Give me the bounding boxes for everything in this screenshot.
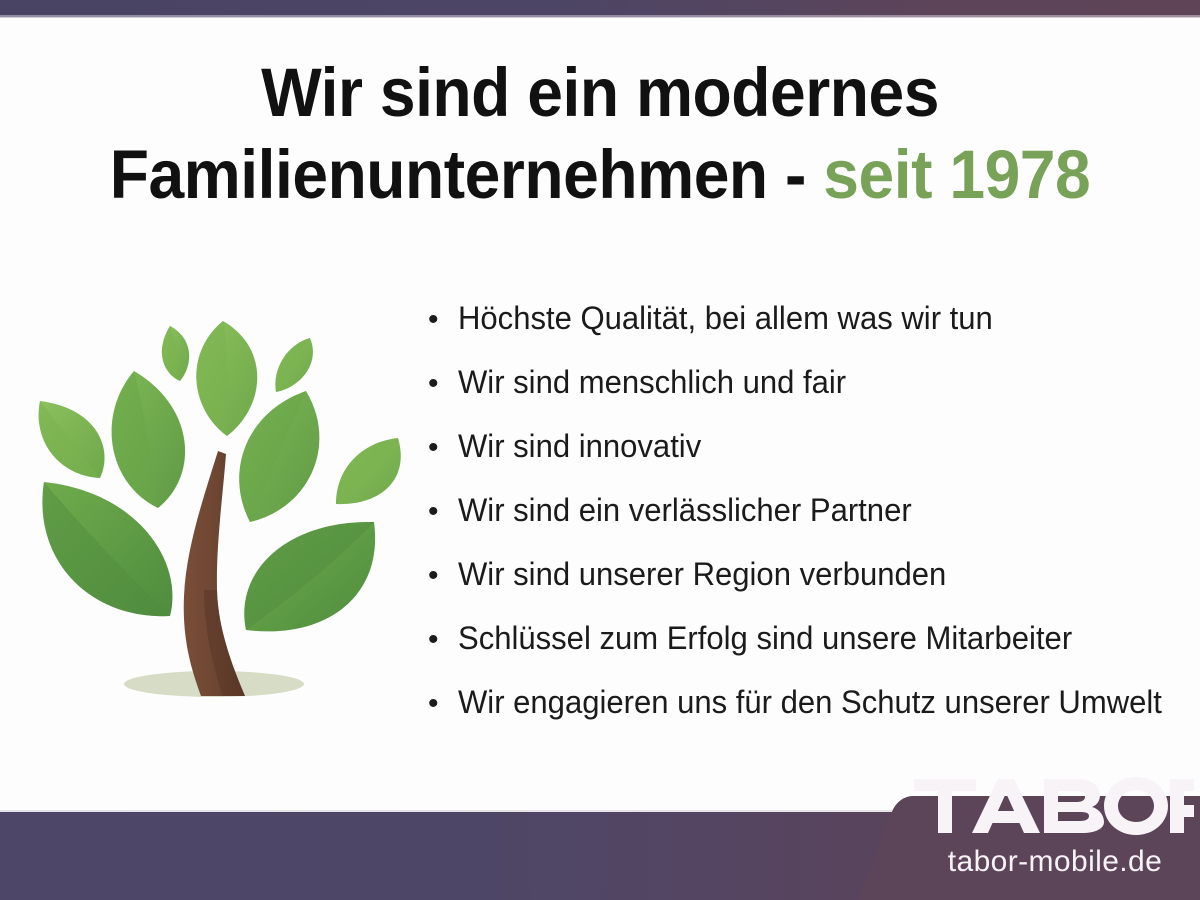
page-title: Wir sind ein modernes Familienunternehme… bbox=[98, 52, 1102, 216]
tabor-wordmark bbox=[914, 777, 1194, 835]
leaf-left-small bbox=[39, 401, 105, 478]
bullet-marker-icon: • bbox=[428, 288, 458, 352]
tree-illustration bbox=[18, 296, 422, 720]
bullet-marker-icon: • bbox=[428, 608, 458, 672]
list-item: • Höchste Qualität, bei allem was wir tu… bbox=[428, 286, 1188, 350]
page-title-line-2: Familienunternehmen - seit 1978 bbox=[98, 134, 1102, 216]
top-accent-bar-highlight bbox=[0, 15, 1200, 18]
list-item: • Wir sind unserer Region verbunden bbox=[428, 542, 1188, 606]
leaf-upper-left bbox=[112, 371, 185, 508]
list-item-label: Höchste Qualität, bei allem was wir tun bbox=[458, 286, 993, 350]
list-item-label: Wir sind ein verlässlicher Partner bbox=[458, 478, 912, 542]
bullet-marker-icon: • bbox=[428, 352, 458, 416]
list-item: • Wir engagieren uns für den Schutz unse… bbox=[428, 670, 1188, 734]
leaf-top-left-small bbox=[162, 326, 189, 381]
list-item-label: Wir sind innovativ bbox=[458, 414, 701, 478]
bullet-marker-icon: • bbox=[428, 544, 458, 608]
bullet-marker-icon: • bbox=[428, 672, 458, 736]
list-item: • Schlüssel zum Erfolg sind unsere Mitar… bbox=[428, 606, 1188, 670]
leaf-right-small bbox=[336, 438, 401, 504]
list-item-label: Schlüssel zum Erfolg sind unsere Mitarbe… bbox=[458, 606, 1072, 670]
list-item-label: Wir engagieren uns für den Schutz unsere… bbox=[458, 670, 1162, 734]
page-title-line-1: Wir sind ein modernes bbox=[98, 52, 1102, 134]
slide-canvas: Wir sind ein modernes Familienunternehme… bbox=[0, 0, 1200, 900]
value-bullet-list: • Höchste Qualität, bei allem was wir tu… bbox=[428, 286, 1188, 734]
list-item: • Wir sind menschlich und fair bbox=[428, 350, 1188, 414]
brand-logo-block[interactable]: tabor-mobile.de bbox=[852, 755, 1200, 900]
list-item: • Wir sind innovativ bbox=[428, 414, 1188, 478]
brand-domain-label: tabor-mobile.de bbox=[914, 845, 1196, 879]
bullet-marker-icon: • bbox=[428, 480, 458, 544]
leaf-top-center bbox=[196, 321, 257, 436]
list-item: • Wir sind ein verlässlicher Partner bbox=[428, 478, 1188, 542]
page-title-line-2-plain: Familienunternehmen - bbox=[110, 136, 824, 213]
leaf-upper-right bbox=[239, 391, 319, 522]
list-item-label: Wir sind unserer Region verbunden bbox=[458, 542, 946, 606]
bullet-marker-icon: • bbox=[428, 416, 458, 480]
leaf-lower-right bbox=[244, 522, 375, 631]
leaf-top-right-small bbox=[275, 338, 313, 392]
list-item-label: Wir sind menschlich und fair bbox=[458, 350, 846, 414]
page-title-accent: seit 1978 bbox=[823, 136, 1090, 213]
